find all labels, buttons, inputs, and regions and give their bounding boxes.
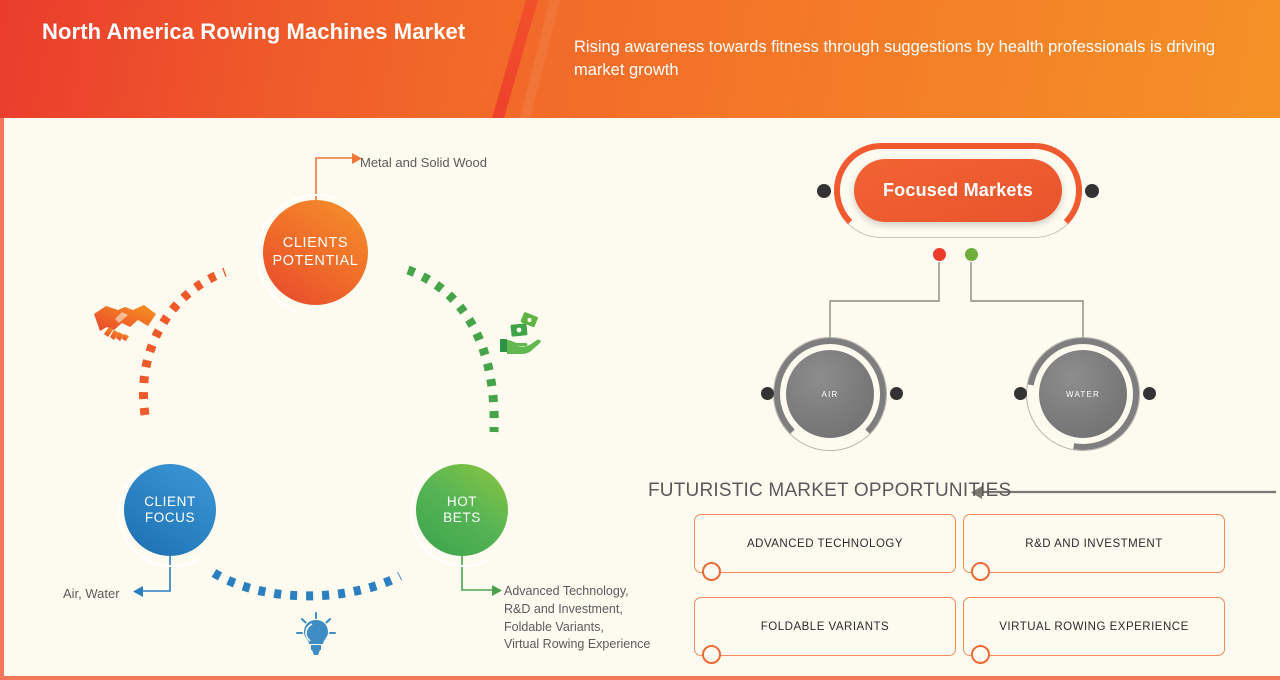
opportunity-label: FOLDABLE VARIANTS: [761, 621, 889, 633]
bubble-label-line2: POTENTIAL: [273, 253, 359, 271]
air-knob-dot-right: [890, 387, 903, 400]
water-knob-dot-left: [1014, 387, 1027, 400]
opportunity-bullet-icon-3: [971, 645, 990, 664]
indicator-dot-green: [965, 248, 978, 261]
knob-water-label: WATER: [1066, 390, 1100, 399]
arrow-head-hotbets: [492, 585, 502, 596]
arrow-head-airwater: [133, 586, 143, 597]
infographic-page: North America Rowing Machines Market Ris…: [0, 0, 1280, 680]
dotted-arc-blue: [214, 573, 400, 596]
focused-markets-dot-right: [1085, 184, 1099, 198]
label-metal-and-solid-wood: Metal and Solid Wood: [360, 154, 487, 173]
handshake-icon: [92, 300, 158, 344]
knob-air-label: AIR: [822, 390, 839, 399]
bubble-label-line2: BETS: [443, 510, 481, 526]
focused-markets-button[interactable]: Focused Markets: [854, 159, 1062, 222]
bubble-client-focus[interactable]: CLIENT FOCUS: [124, 464, 216, 556]
bubble-label-line2: FOCUS: [144, 510, 196, 526]
money-in-hand-icon: [497, 312, 541, 356]
bubble-label-line1: CLIENTS: [273, 235, 359, 253]
opportunity-label: VIRTUAL ROWING EXPERIENCE: [999, 621, 1189, 633]
bubble-clients-potential[interactable]: CLIENTS POTENTIAL: [263, 200, 368, 305]
air-knob-dot-left: [761, 387, 774, 400]
opportunity-bullet-icon-2: [702, 645, 721, 664]
knob-air[interactable]: AIR: [786, 350, 874, 438]
opportunity-card-virtual-rowing-experience[interactable]: VIRTUAL ROWING EXPERIENCE: [963, 597, 1225, 656]
connector-focused-to-air: [830, 262, 939, 350]
label-hot-bets-list: Advanced Technology, R&D and Investment,…: [504, 583, 650, 654]
indicator-dot-red: [933, 248, 946, 261]
knob-water[interactable]: WATER: [1039, 350, 1127, 438]
opportunity-card-foldable-variants[interactable]: FOLDABLE VARIANTS: [694, 597, 956, 656]
opportunity-label: R&D AND INVESTMENT: [1025, 538, 1162, 550]
bubble-hot-bets[interactable]: HOT BETS: [416, 464, 508, 556]
focused-markets-group: Focused Markets: [808, 145, 1108, 241]
focused-markets-dot-left: [817, 184, 831, 198]
opportunity-card-advanced-technology[interactable]: ADVANCED TECHNOLOGY: [694, 514, 956, 573]
water-knob-dot-right: [1143, 387, 1156, 400]
bubble-label-line1: CLIENT: [144, 494, 196, 510]
dotted-arc-green: [408, 270, 494, 432]
lightbulb-icon: [294, 612, 338, 658]
opportunity-label: ADVANCED TECHNOLOGY: [747, 538, 903, 550]
opportunities-title: FUTURISTIC MARKET OPPORTUNITIES: [648, 480, 1011, 502]
label-air-water: Air, Water: [63, 585, 120, 604]
connector-focused-to-water: [971, 262, 1083, 350]
bubble-label-line1: HOT: [443, 494, 481, 510]
opportunity-bullet-icon-0: [702, 562, 721, 581]
opportunity-card-rd-and-investment[interactable]: R&D AND INVESTMENT: [963, 514, 1225, 573]
opportunity-bullet-icon-1: [971, 562, 990, 581]
